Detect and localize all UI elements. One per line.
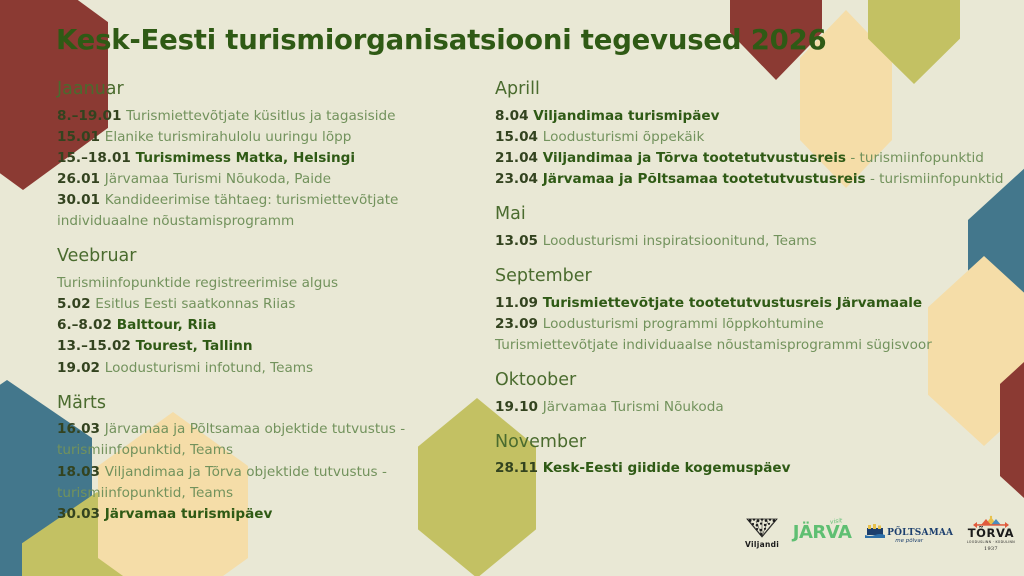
event-title: Esitlus Eesti saatkonnas Riias <box>95 296 295 312</box>
event-date: 13.05 <box>495 233 543 249</box>
poster-content: Kesk-Eesti turismiorganisatsiooni tegevu… <box>0 0 1024 576</box>
event-date: 28.11 <box>495 460 543 476</box>
event-title: Viljandimaa ja Tõrva objektide tutvustus… <box>57 464 387 501</box>
event-date: 15.01 <box>57 129 105 145</box>
event-title: Loodusturismi programmi lõppkohtumine <box>543 316 824 332</box>
month-heading: Veebruar <box>57 245 457 269</box>
logo-poltsamaa-label: PÕLTSAMAA <box>887 528 953 538</box>
logo-viljandi-label: Viljandi <box>745 540 779 549</box>
month-block: Jaanuar8.–19.01 Turismiettevõtjate küsit… <box>57 78 457 232</box>
event-title: Järvamaa Turismi Nõukoda, Paide <box>105 171 331 187</box>
logo-poltsamaa-sublabel: me põlvar <box>895 538 923 544</box>
event-date: 18.03 <box>57 464 105 480</box>
event-item: 23.09 Loodusturismi programmi lõppkohtum… <box>495 314 1015 335</box>
event-title: Turismiettevõtjate individuaalse nõustam… <box>495 337 932 353</box>
month-block: Aprill8.04 Viljandimaa turismipäev15.04 … <box>495 78 1015 190</box>
event-title: Loodusturismi infotund, Teams <box>105 360 313 376</box>
event-item: 15.–18.01 Turismimess Matka, Helsingi <box>57 148 457 169</box>
event-item: 13.–15.02 Tourest, Tallinn <box>57 336 457 357</box>
event-title: Elanike turismirahulolu uuringu lõpp <box>105 129 352 145</box>
event-date: 19.02 <box>57 360 105 376</box>
event-item: 6.–8.02 Balttour, Riia <box>57 315 457 336</box>
event-date: 30.03 <box>57 506 105 522</box>
event-item: 8.–19.01 Turismiettevõtjate küsitlus ja … <box>57 106 457 127</box>
poltsamaa-castle-icon <box>865 522 885 538</box>
event-date: 30.01 <box>57 192 105 208</box>
event-date: 15.–18.01 <box>57 150 136 166</box>
event-item: 16.03 Järvamaa ja Põltsamaa objektide tu… <box>57 419 457 461</box>
event-title: Kandideerimise tähtaeg: turismiettevõtja… <box>57 192 398 229</box>
event-item: 5.02 Esitlus Eesti saatkonnas Riias <box>57 294 457 315</box>
event-date: 26.01 <box>57 171 105 187</box>
event-item: 18.03 Viljandimaa ja Tõrva objektide tut… <box>57 462 457 504</box>
month-block: VeebruarTurismiinfopunktide registreerim… <box>57 245 457 378</box>
month-block: Oktoober19.10 Järvamaa Turismi Nõukoda <box>495 369 1015 418</box>
event-item: 13.05 Loodusturismi inspiratsioonitund, … <box>495 231 1015 252</box>
month-heading: Jaanuar <box>57 78 457 102</box>
event-date: 13.–15.02 <box>57 338 136 354</box>
logo-viljandi: Viljandi <box>745 517 779 549</box>
event-title: Tourest, Tallinn <box>136 338 253 354</box>
month-column-left: Jaanuar8.–19.01 Turismiettevõtjate küsit… <box>57 78 457 538</box>
event-date: 23.04 <box>495 171 543 187</box>
viljandi-emblem-icon <box>745 517 779 539</box>
event-item: 8.04 Viljandimaa turismipäev <box>495 106 1015 127</box>
event-date: 11.09 <box>495 295 543 311</box>
event-date: 19.10 <box>495 399 543 415</box>
logo-torva: TÕRVA LOODUSLINN · KODULINN 1937 <box>967 515 1015 552</box>
event-title: Turismiinfopunktide registreerimise algu… <box>57 275 338 291</box>
event-title: Balttour, Riia <box>117 317 217 333</box>
month-block: Märts16.03 Järvamaa ja Põltsamaa objekti… <box>57 392 457 525</box>
event-item: 21.04 Viljandimaa ja Tõrva tootetutvustu… <box>495 148 1015 169</box>
event-item: 11.09 Turismiettevõtjate tootetutvustusr… <box>495 293 1015 314</box>
month-heading: Aprill <box>495 78 1015 102</box>
event-item: 26.01 Järvamaa Turismi Nõukoda, Paide <box>57 169 457 190</box>
logo-jarva-sublabel: visit <box>829 517 842 526</box>
month-block: November28.11 Kesk-Eesti giidide kogemus… <box>495 431 1015 480</box>
event-date: 21.04 <box>495 150 543 166</box>
logo-torva-label: TÕRVA <box>968 528 1015 540</box>
month-column-right: Aprill8.04 Viljandimaa turismipäev15.04 … <box>495 78 1015 492</box>
event-title: Loodusturismi õppekäik <box>543 129 705 145</box>
event-item: 30.01 Kandideerimise tähtaeg: turismiett… <box>57 190 457 232</box>
event-item: 19.02 Loodusturismi infotund, Teams <box>57 358 457 379</box>
month-heading: November <box>495 431 1015 455</box>
event-date: 15.04 <box>495 129 543 145</box>
event-item: Turismiettevõtjate individuaalse nõustam… <box>495 335 1015 356</box>
partner-logos: Viljandi JÄRVA visit PÕLTSAMAA me põlvar <box>745 508 1015 558</box>
event-item: 30.03 Järvamaa turismipäev <box>57 504 457 525</box>
event-item: 19.10 Järvamaa Turismi Nõukoda <box>495 397 1015 418</box>
event-date: 8.–19.01 <box>57 108 126 124</box>
event-title: Järvamaa ja Põltsamaa objektide tutvustu… <box>57 421 405 458</box>
month-heading: Mai <box>495 203 1015 227</box>
month-heading: September <box>495 265 1015 289</box>
event-subtitle: - turismiinfopunktid <box>846 150 984 166</box>
month-block: Mai13.05 Loodusturismi inspiratsioonitun… <box>495 203 1015 252</box>
page-title: Kesk-Eesti turismiorganisatsiooni tegevu… <box>56 24 826 56</box>
event-title: Järvamaa Turismi Nõukoda <box>543 399 724 415</box>
event-title: Järvamaa ja Põltsamaa tootetutvustusreis <box>543 171 866 187</box>
event-title: Turismiettevõtjate küsitlus ja tagasisid… <box>126 108 395 124</box>
event-date: 6.–8.02 <box>57 317 117 333</box>
event-title: Turismimess Matka, Helsingi <box>136 150 355 166</box>
logo-poltsamaa: PÕLTSAMAA me põlvar <box>865 522 953 544</box>
event-title: Viljandimaa ja Tõrva tootetutvustusreis <box>543 150 846 166</box>
month-heading: Märts <box>57 392 457 416</box>
event-item: 15.01 Elanike turismirahulolu uuringu lõ… <box>57 127 457 148</box>
event-item: Turismiinfopunktide registreerimise algu… <box>57 273 457 294</box>
event-item: 15.04 Loodusturismi õppekäik <box>495 127 1015 148</box>
event-date: 5.02 <box>57 296 95 312</box>
month-block: September11.09 Turismiettevõtjate tootet… <box>495 265 1015 356</box>
event-item: 28.11 Kesk-Eesti giidide kogemuspäev <box>495 458 1015 479</box>
poster-canvas: Kesk-Eesti turismiorganisatsiooni tegevu… <box>0 0 1024 576</box>
event-title: Loodusturismi inspiratsioonitund, Teams <box>543 233 817 249</box>
month-heading: Oktoober <box>495 369 1015 393</box>
event-title: Viljandimaa turismipäev <box>533 108 719 124</box>
event-title: Kesk-Eesti giidide kogemuspäev <box>543 460 791 476</box>
event-subtitle: - turismiinfopunktid <box>866 171 1004 187</box>
logo-jarva-label: JÄRVA <box>793 524 852 542</box>
event-item: 23.04 Järvamaa ja Põltsamaa tootetutvust… <box>495 169 1015 190</box>
logo-torva-year: 1937 <box>984 546 998 552</box>
event-title: Järvamaa turismipäev <box>105 506 273 522</box>
event-date: 23.09 <box>495 316 543 332</box>
event-date: 16.03 <box>57 421 105 437</box>
event-date: 8.04 <box>495 108 533 124</box>
logo-jarva: JÄRVA visit <box>793 524 852 542</box>
event-title: Turismiettevõtjate tootetutvustusreis Jä… <box>543 295 922 311</box>
logo-torva-tagline: LOODUSLINN · KODULINN <box>967 540 1015 544</box>
